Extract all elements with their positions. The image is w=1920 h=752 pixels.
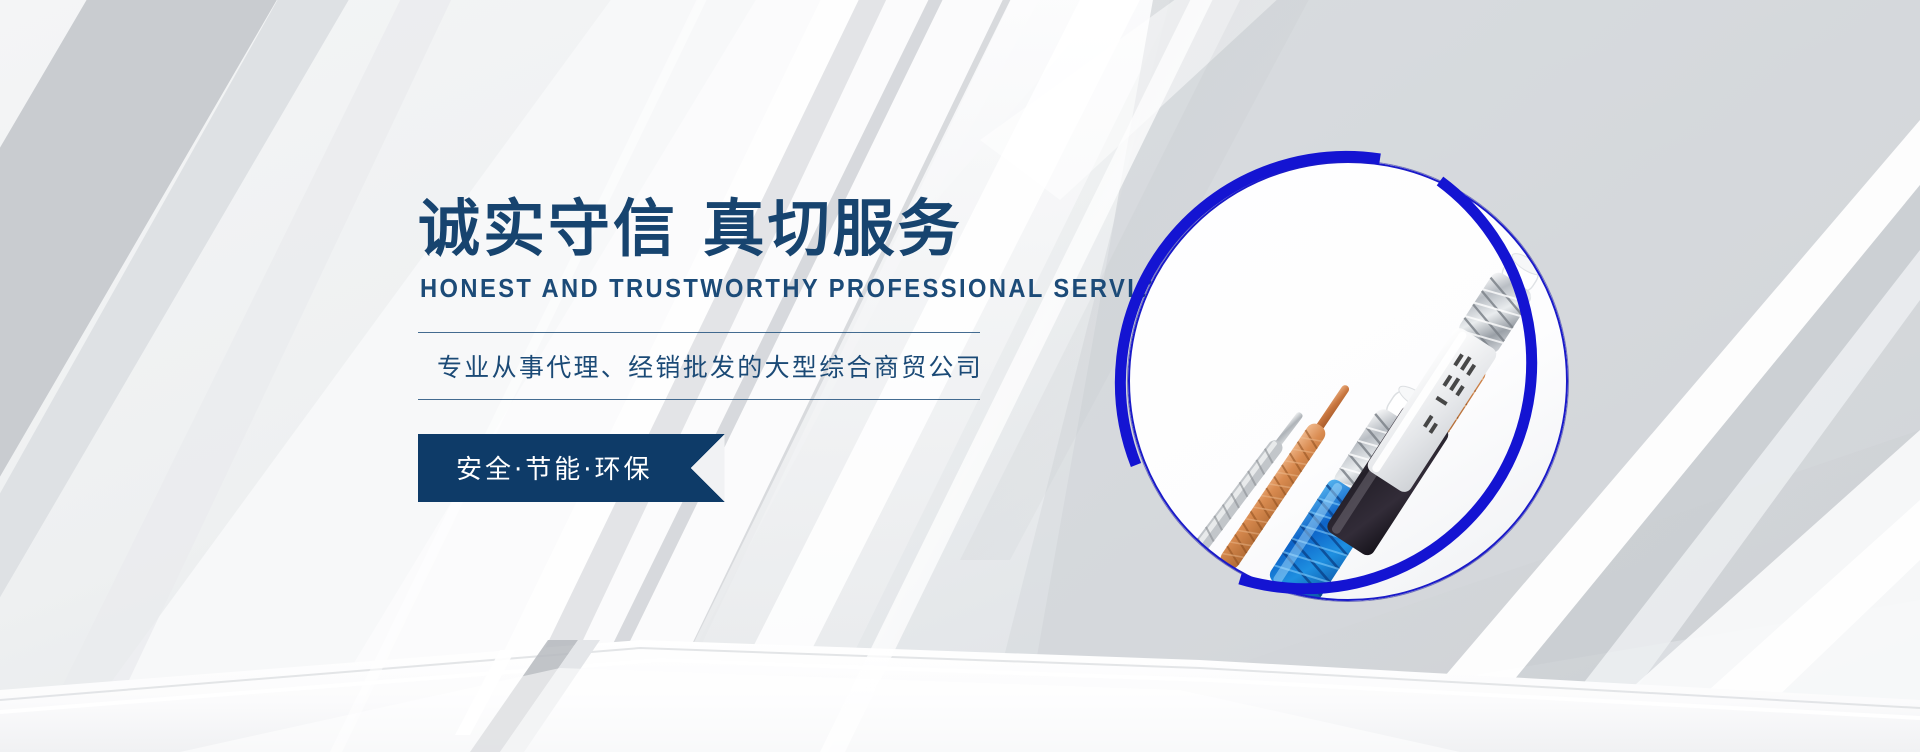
divider-top — [418, 332, 980, 333]
hero-banner: 诚实守信 真切服务 HONEST AND TRUSTWORTHY PROFESS… — [0, 0, 1920, 752]
ribbon-wrapper: 安全·节能·环保 — [418, 434, 1078, 502]
banner-copy: 诚实守信 真切服务 HONEST AND TRUSTWORTHY PROFESS… — [418, 196, 1078, 502]
feature-ribbon: 安全·节能·环保 — [418, 434, 725, 502]
banner-headline: 诚实守信 真切服务 — [418, 196, 1078, 263]
banner-description: 专业从事代理、经销批发的大型综合商贸公司 — [418, 333, 980, 399]
product-medallion — [1122, 155, 1574, 607]
ring-decoration — [1122, 155, 1574, 607]
banner-subheadline: HONEST AND TRUSTWORTHY PROFESSIONAL SERV… — [420, 275, 1032, 304]
divider-bottom — [418, 399, 980, 400]
description-block: 专业从事代理、经销批发的大型综合商贸公司 — [418, 332, 980, 400]
